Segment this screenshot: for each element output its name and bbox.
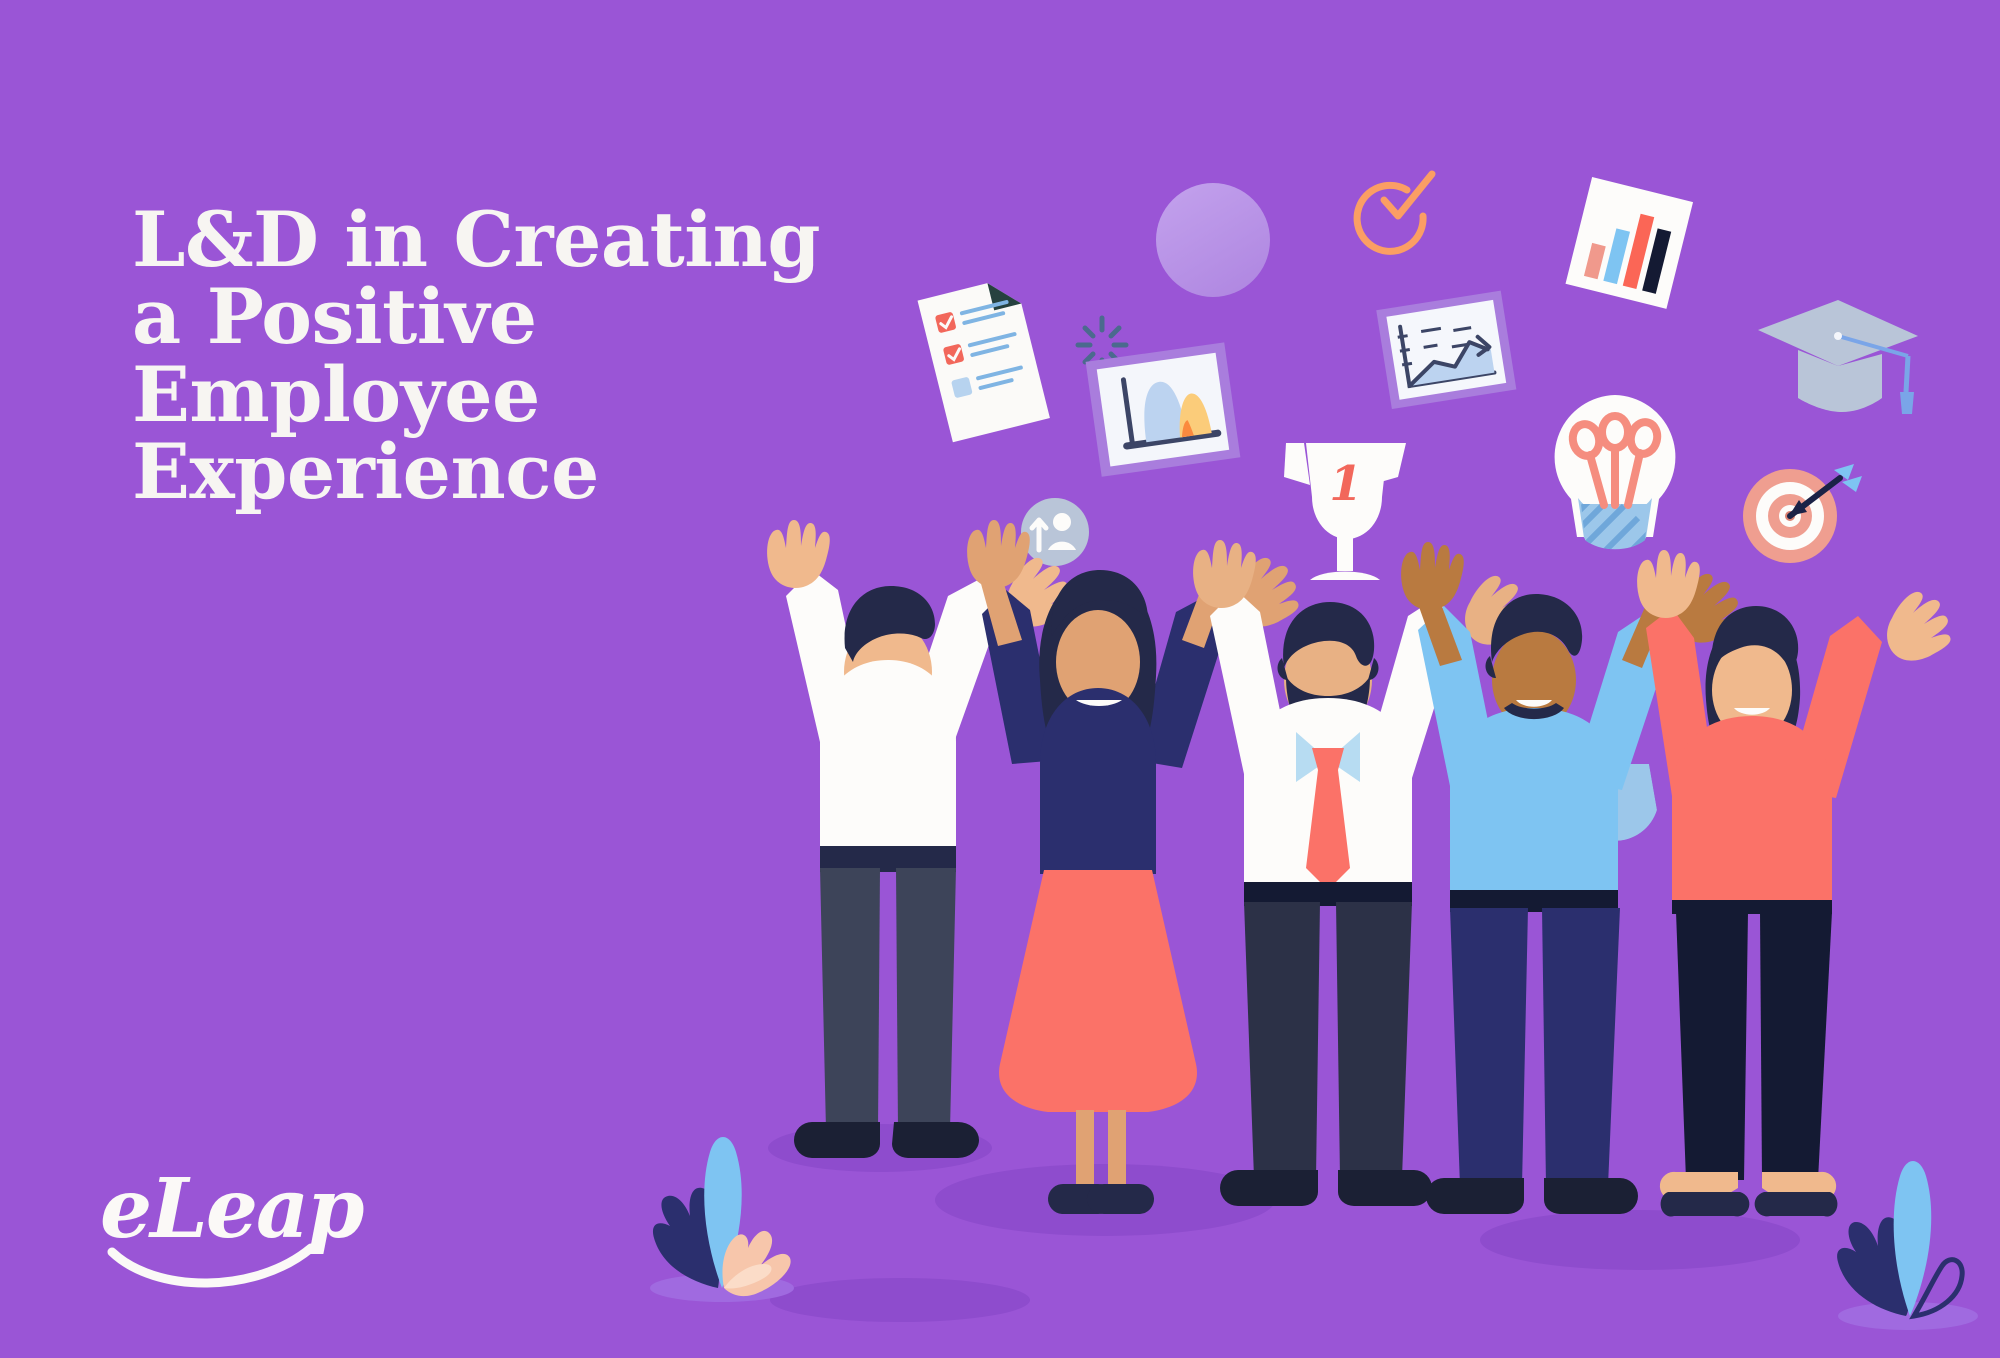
framed-bell-curve-chart-icon	[1086, 342, 1241, 476]
brand-logo[interactable]: eLeap	[100, 1168, 330, 1278]
pale-circle-decoration	[1156, 183, 1270, 297]
plant-left	[650, 1137, 794, 1302]
graduation-cap-icon	[1758, 300, 1918, 414]
page-title: L&D in Creating a Positive Employee Expe…	[132, 201, 832, 511]
bar-chart-card-icon	[1566, 177, 1694, 309]
poster-canvas: 1	[0, 0, 2000, 1358]
brand-logo-text: eLeap	[100, 1168, 362, 1250]
user-growth-icon	[1021, 498, 1089, 566]
trophy-number: 1	[1329, 456, 1362, 512]
plant-right	[1837, 1161, 1978, 1330]
logo-swash-icon	[106, 1242, 326, 1290]
trophy-icon: 1	[1284, 443, 1406, 580]
checklist-document-icon	[918, 276, 1050, 442]
framed-line-chart-icon	[1376, 291, 1516, 409]
checkmark-circle-icon	[1357, 174, 1432, 251]
target-arrow-icon	[1743, 464, 1862, 563]
person-woman-coral-top	[1637, 550, 1950, 1217]
